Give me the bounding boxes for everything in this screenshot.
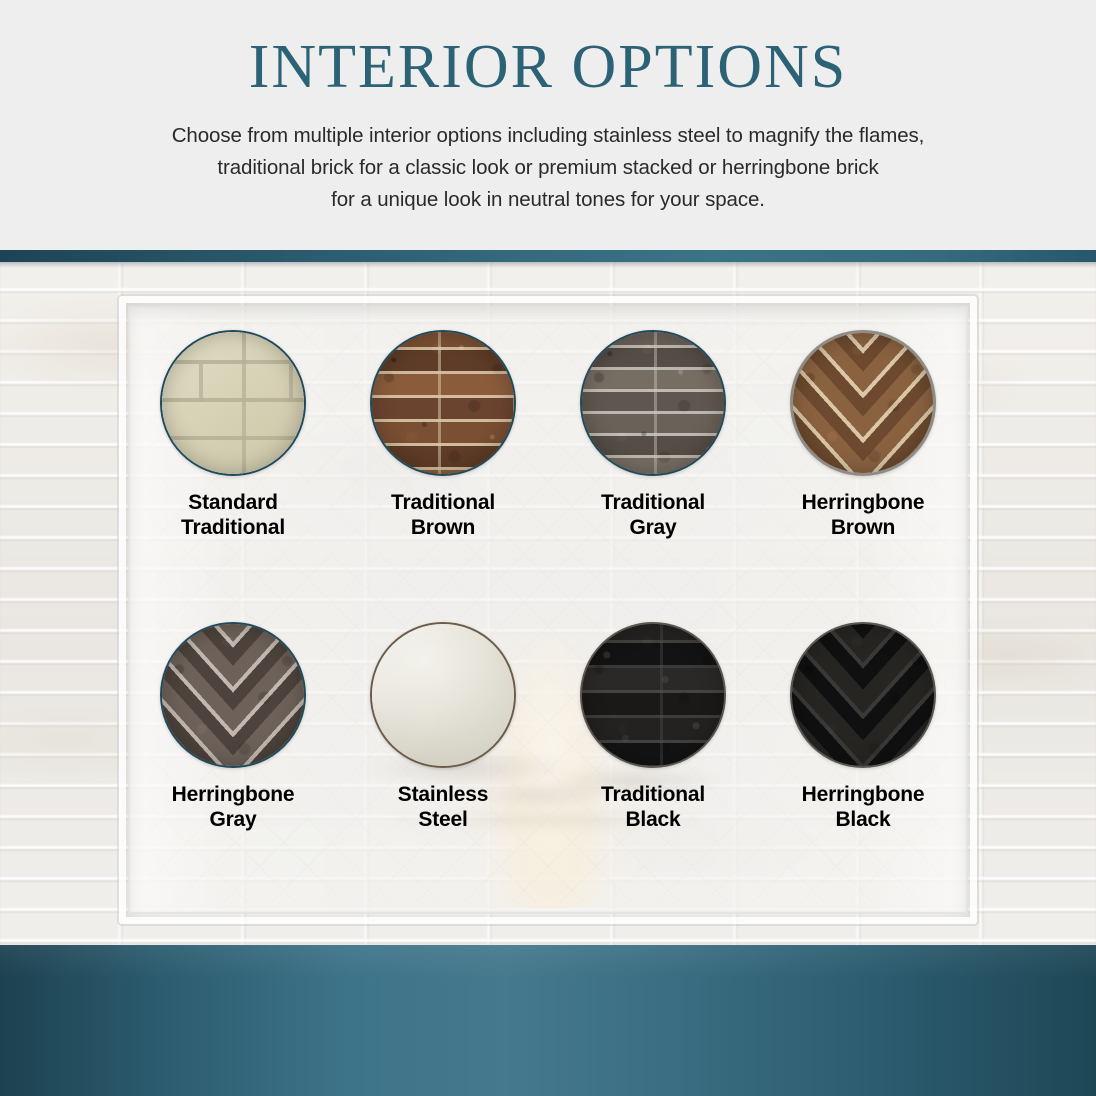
swatch-vignette — [162, 332, 304, 474]
swatch-vignette — [372, 332, 514, 474]
interior-swatch-grid: Standard Traditional Traditional Brown — [128, 306, 968, 914]
swatch-herringbone-brown[interactable] — [790, 330, 936, 476]
swatch-label-traditional-black: Traditional Black — [601, 783, 705, 832]
label-line-1: Traditional — [601, 783, 705, 806]
swatch-cell-standard-traditional[interactable]: Standard Traditional — [128, 306, 338, 610]
label-line-2: Gray — [601, 516, 705, 541]
label-line-1: Herringbone — [802, 491, 925, 514]
divider-shadow — [0, 262, 1096, 268]
header-section: INTERIOR OPTIONS Choose from multiple in… — [0, 0, 1096, 250]
fireplace-photo-stage: Standard Traditional Traditional Brown — [0, 262, 1096, 945]
label-line-2: Black — [802, 808, 925, 833]
swatch-stainless-steel[interactable] — [370, 622, 516, 768]
swatch-label-herringbone-gray: Herringbone Gray — [172, 783, 295, 832]
footer-sheen — [0, 945, 1096, 979]
description-line-3: for a unique look in neutral tones for y… — [48, 184, 1048, 216]
label-line-1: Herringbone — [802, 783, 925, 806]
label-line-2: Black — [601, 808, 705, 833]
label-line-1: Traditional — [601, 491, 705, 514]
swatch-traditional-gray[interactable] — [580, 330, 726, 476]
swatch-herringbone-black[interactable] — [790, 622, 936, 768]
swatch-label-stainless-steel: Stainless Steel — [398, 783, 488, 832]
label-line-1: Herringbone — [172, 783, 295, 806]
description-line-1: Choose from multiple interior options in… — [48, 120, 1048, 152]
header-description: Choose from multiple interior options in… — [48, 120, 1048, 216]
swatch-label-traditional-brown: Traditional Brown — [391, 491, 495, 540]
label-line-2: Traditional — [181, 516, 285, 541]
swatch-standard-traditional[interactable] — [160, 330, 306, 476]
label-line-1: Stainless — [398, 783, 488, 806]
swatch-label-herringbone-black: Herringbone Black — [802, 783, 925, 832]
swatch-label-herringbone-brown: Herringbone Brown — [802, 491, 925, 540]
swatch-cell-herringbone-black[interactable]: Herringbone Black — [758, 610, 968, 914]
swatch-vignette — [793, 333, 933, 473]
swatch-cell-traditional-black[interactable]: Traditional Black — [548, 610, 758, 914]
swatch-cell-herringbone-gray[interactable]: Herringbone Gray — [128, 610, 338, 914]
swatch-label-standard-traditional: Standard Traditional — [181, 491, 285, 540]
interior-options-page: INTERIOR OPTIONS Choose from multiple in… — [0, 0, 1096, 1096]
label-line-2: Brown — [391, 516, 495, 541]
label-line-1: Traditional — [391, 491, 495, 514]
swatch-cell-traditional-gray[interactable]: Traditional Gray — [548, 306, 758, 610]
page-title: INTERIOR OPTIONS — [249, 36, 848, 98]
label-line-1: Standard — [188, 491, 277, 514]
steel-sheen — [372, 624, 514, 766]
swatch-cell-stainless-steel[interactable]: Stainless Steel — [338, 610, 548, 914]
header-divider-bar — [0, 250, 1096, 262]
swatch-label-traditional-gray: Traditional Gray — [601, 491, 705, 540]
label-line-2: Brown — [802, 516, 925, 541]
swatch-vignette — [792, 624, 934, 766]
label-line-2: Steel — [398, 808, 488, 833]
description-line-2: traditional brick for a classic look or … — [48, 152, 1048, 184]
label-line-2: Gray — [172, 808, 295, 833]
swatch-vignette — [582, 332, 724, 474]
swatch-cell-traditional-brown[interactable]: Traditional Brown — [338, 306, 548, 610]
swatch-vignette — [582, 624, 724, 766]
swatch-herringbone-gray[interactable] — [160, 622, 306, 768]
swatch-vignette — [162, 624, 304, 766]
swatch-cell-herringbone-brown[interactable]: Herringbone Brown — [758, 306, 968, 610]
swatch-traditional-black[interactable] — [580, 622, 726, 768]
footer-bar — [0, 945, 1096, 1096]
swatch-traditional-brown[interactable] — [370, 330, 516, 476]
